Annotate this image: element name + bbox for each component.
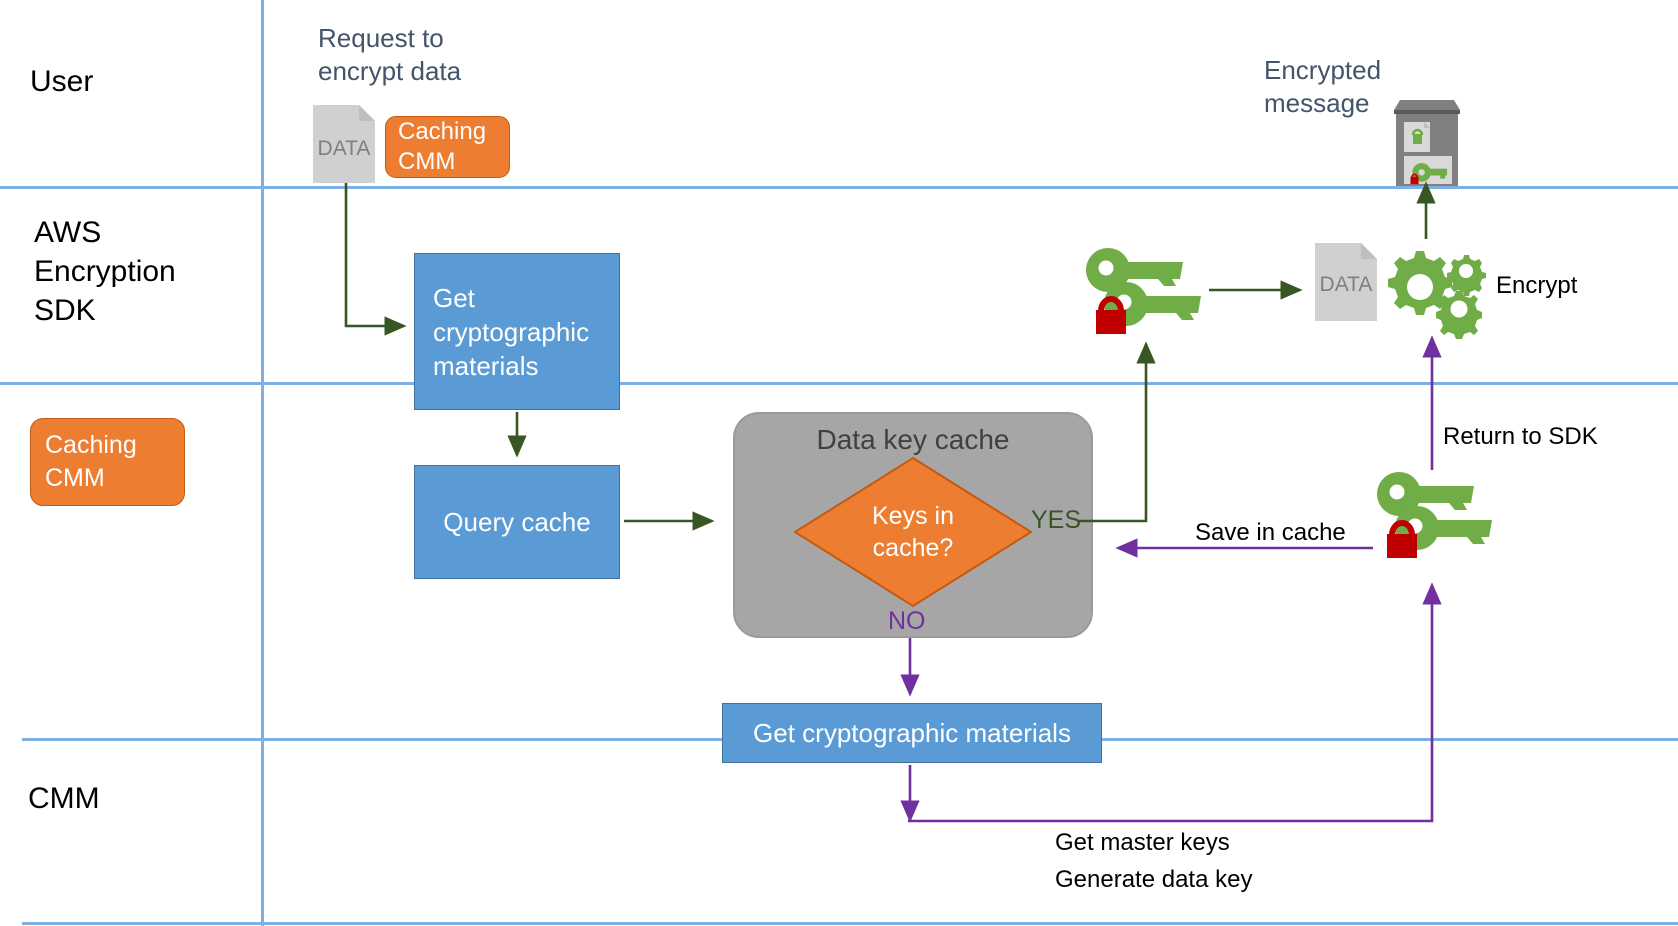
get-cryptographic-materials-box-cmm[interactable]: Get cryptographic materials [722,703,1102,763]
lane-label-cmm: CMM [28,779,100,818]
lane-bottom-rule [22,922,1678,925]
data-file-label-user: DATA [313,137,375,161]
yes-branch-label: YES [1031,506,1081,535]
legend-caching-cmm-chip: Caching CMM [30,418,185,506]
keys-in-cache-label: Keys in cache? [793,456,1033,608]
data-key-cache-title: Data key cache [735,424,1091,456]
data-file-icon-sdk: DATA [1315,243,1377,321]
arrow-request-to-get-crypto-materials [346,183,404,326]
query-cache-box[interactable]: Query cache [414,465,620,579]
lane-label-user: User [30,62,93,101]
lane-label-aws-encryption-sdk: AWS Encryption SDK [34,213,176,330]
lane-divider-sdk-cache [0,382,1678,385]
return-to-sdk-label: Return to SDK [1443,421,1598,452]
get-cryptographic-materials-box-sdk[interactable]: Get cryptographic materials [414,253,620,410]
gears-icon [1378,243,1488,331]
no-branch-label: NO [888,607,926,636]
two-keys-with-lock-icon-sdk [1084,248,1214,344]
two-keys-with-lock-icon-cache [1375,472,1505,568]
request-to-encrypt-caption: Request to encrypt data [318,22,461,88]
lane-header-separator [261,0,264,926]
save-in-cache-label: Save in cache [1195,517,1346,548]
archive-box-icon [1394,96,1460,186]
lane-divider-user-sdk [0,186,1678,189]
keys-in-cache-decision[interactable]: Keys in cache? [793,456,1033,608]
data-file-icon-user: DATA [313,105,375,183]
encrypted-message-caption: Encrypted message [1264,54,1381,120]
diagram-canvas: User AWS Encryption SDK CMM Caching CMM … [0,0,1678,926]
get-master-keys-label: Get master keys Generate data key [1055,824,1252,898]
data-file-label-sdk: DATA [1315,273,1377,297]
caching-cmm-badge-user: Caching CMM [385,116,510,178]
encrypt-label: Encrypt [1496,270,1577,301]
